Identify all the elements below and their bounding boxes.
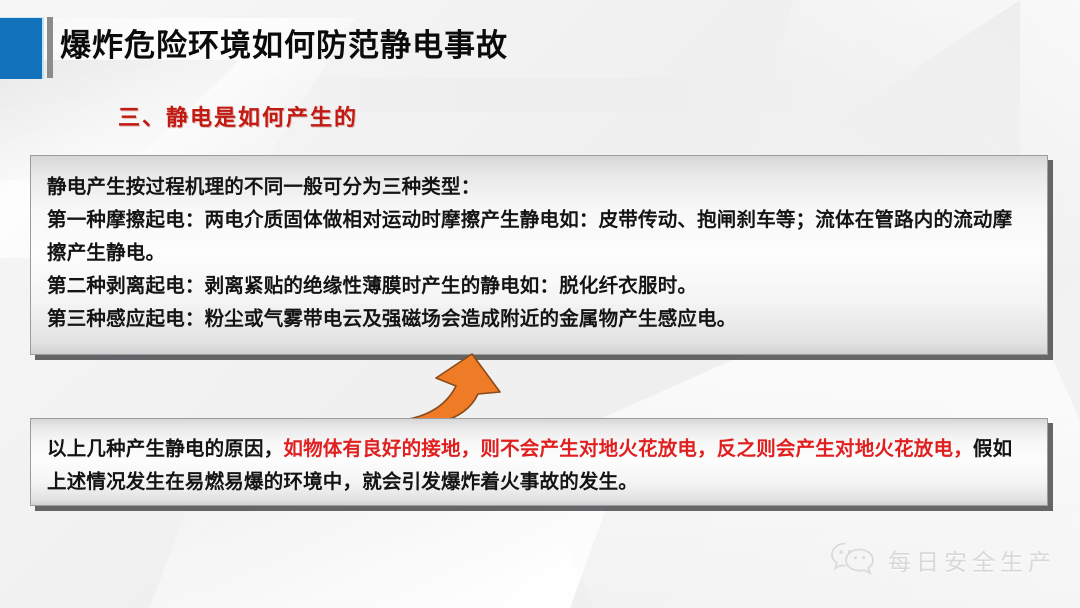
curved-up-arrow-icon	[372, 352, 522, 428]
slide-canvas: 爆炸危险环境如何防范静电事故 三、静电是如何产生的 静电产生按过程机理的不同一般…	[0, 0, 1080, 608]
slide-header: 爆炸危险环境如何防范静电事故	[0, 0, 1080, 90]
conclusion-segment-2-emphasis: 如物体有良好的接地，则不会产生对地火花放电，反之则会产生对地火花放电，	[283, 437, 973, 460]
page-title: 爆炸危险环境如何防范静电事故	[60, 20, 508, 72]
main-line-5: 第三种感应起电：粉尘或气雾带电云及强磁场会造成附近的金属物产生感应电。	[47, 302, 1031, 335]
watermark: 每日安全生产	[830, 540, 1056, 580]
main-line-2: 第一种摩擦起电：两电介质固体做相对运动时摩擦产生静电如：皮带传动、抱闸刹车等；流…	[47, 203, 1031, 236]
watermark-text: 每日安全生产	[888, 543, 1056, 577]
conclusion-text: 以上几种产生静电的原因，如物体有良好的接地，则不会产生对地火花放电，反之则会产生…	[47, 432, 1031, 498]
header-accent-block	[0, 17, 44, 79]
conclusion-segment-1: 以上几种产生静电的原因，	[47, 437, 283, 460]
main-line-4: 第二种剥离起电：剥离紧贴的绝缘性薄膜时产生的静电如：脱化纤衣服时。	[47, 269, 1031, 302]
main-line-1: 静电产生按过程机理的不同一般可分为三种类型：	[47, 170, 1031, 203]
header-divider-bar	[47, 17, 53, 78]
conclusion-panel: 以上几种产生静电的原因，如物体有良好的接地，则不会产生对地火花放电，反之则会产生…	[30, 418, 1048, 506]
section-heading: 三、静电是如何产生的	[118, 100, 358, 132]
wechat-icon	[830, 540, 876, 580]
main-line-3: 擦产生静电。	[47, 236, 1031, 269]
main-content-panel: 静电产生按过程机理的不同一般可分为三种类型： 第一种摩擦起电：两电介质固体做相对…	[30, 155, 1048, 355]
